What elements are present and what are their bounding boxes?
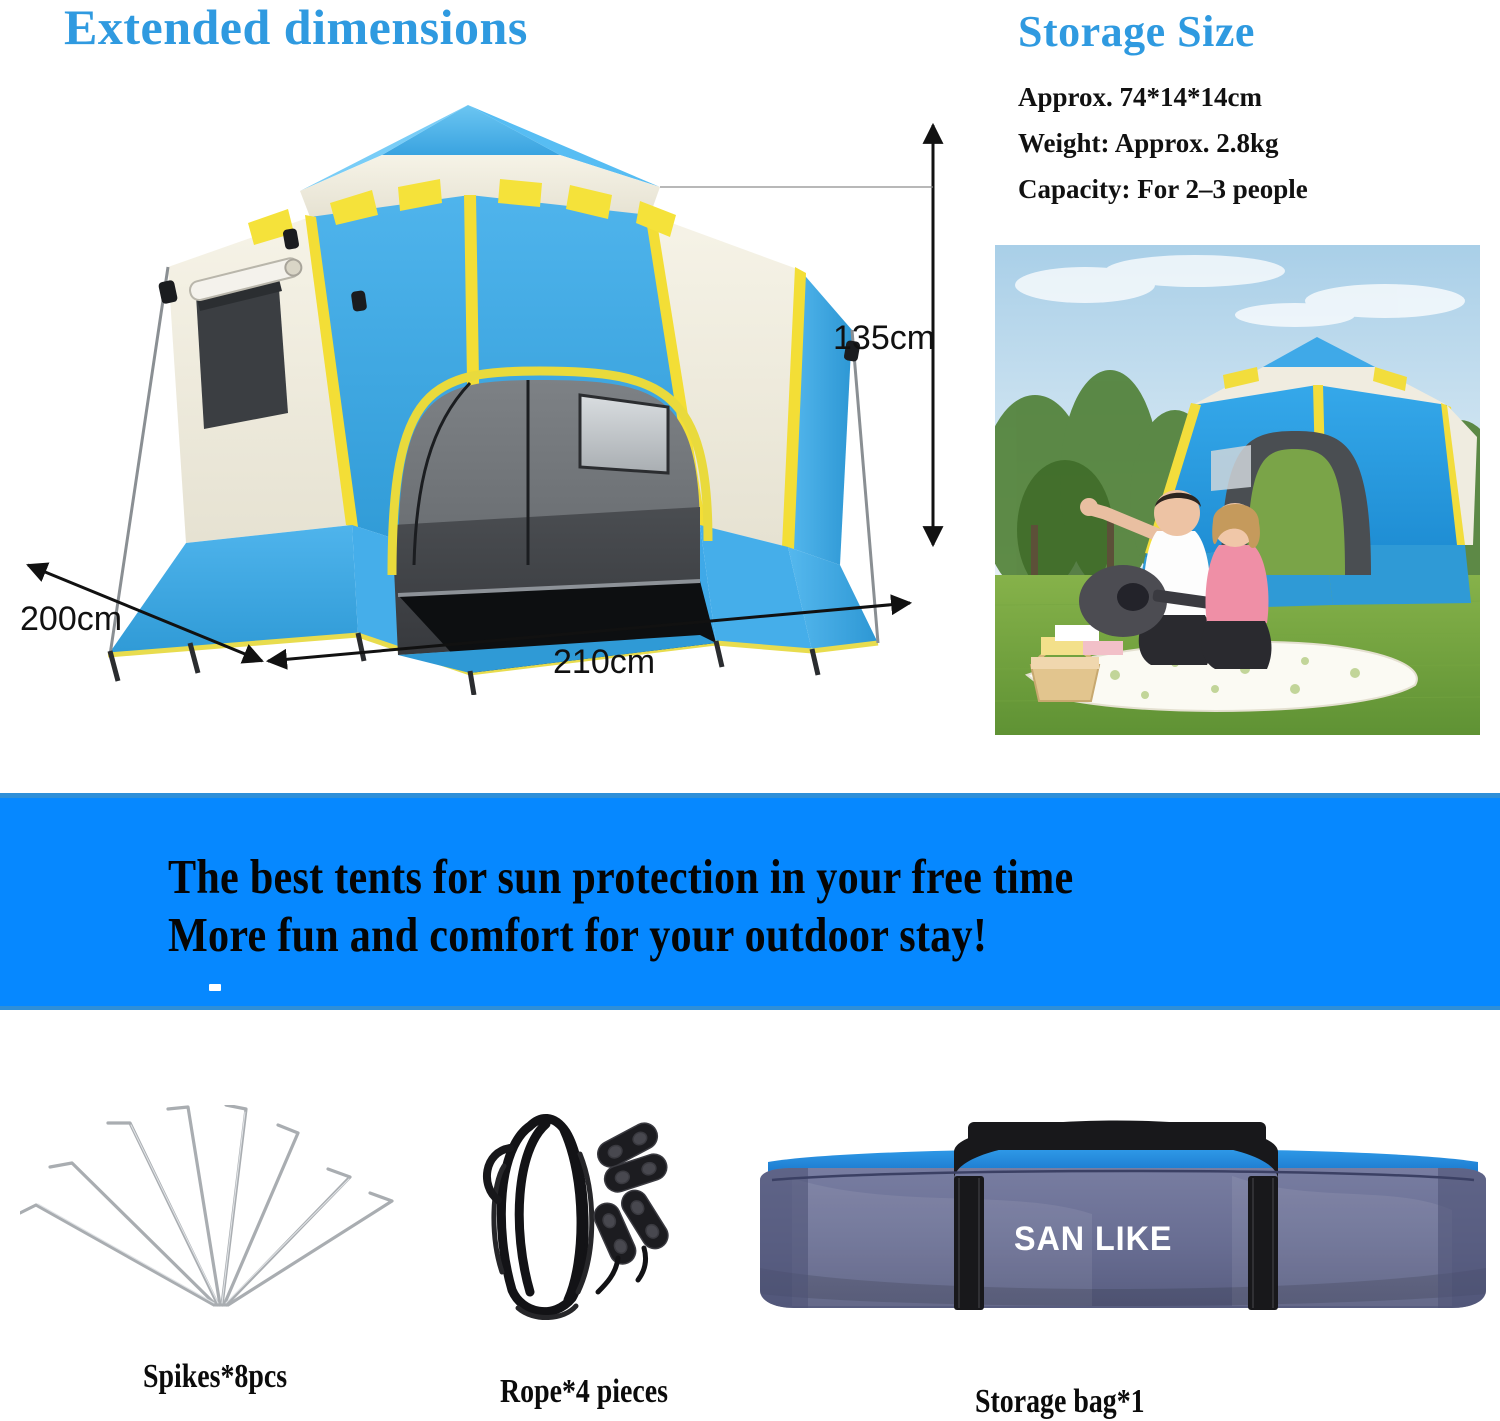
dimension-label-width: 200cm: [20, 600, 122, 639]
infographic-page: Extended dimensions Storage Size Approx.…: [0, 0, 1500, 1412]
accessory-rope: [468, 1108, 703, 1330]
storage-spec-weight: Weight: Approx. 2.8kg: [1018, 128, 1279, 159]
rope-svg: [468, 1108, 703, 1330]
dimension-label-height: 135cm: [833, 319, 935, 358]
accessory-storage-bag: SAN LIKE: [752, 1118, 1494, 1328]
accessory-caption-bag: Storage bag*1: [975, 1383, 1145, 1421]
dimension-label-depth: 210cm: [553, 643, 655, 682]
storage-spec-capacity: Capacity: For 2–3 people: [1018, 174, 1308, 205]
bag-brand-label: SAN LIKE: [1014, 1220, 1172, 1259]
banner-dash-artifact: [209, 984, 221, 991]
banner-line-1: The best tents for sun protection in you…: [168, 848, 1073, 905]
accessory-spikes: [20, 1105, 420, 1330]
storage-spec-dimensions: Approx. 74*14*14cm: [1018, 82, 1262, 113]
extended-dimensions-title: Extended dimensions: [64, 0, 528, 56]
accessory-caption-spikes: Spikes*8pcs: [143, 1358, 287, 1396]
tent-illustration: [0, 95, 960, 695]
accessory-caption-rope: Rope*4 pieces: [500, 1373, 668, 1411]
spikes-svg: [20, 1105, 420, 1330]
tent-diagram-svg: [0, 95, 960, 695]
banner-line-2: More fun and comfort for your outdoor st…: [168, 906, 987, 963]
storage-size-title: Storage Size: [1018, 6, 1255, 57]
lifestyle-photo-svg: [995, 245, 1480, 735]
lifestyle-photo: [995, 245, 1480, 735]
promo-banner: The best tents for sun protection in you…: [0, 793, 1500, 1010]
